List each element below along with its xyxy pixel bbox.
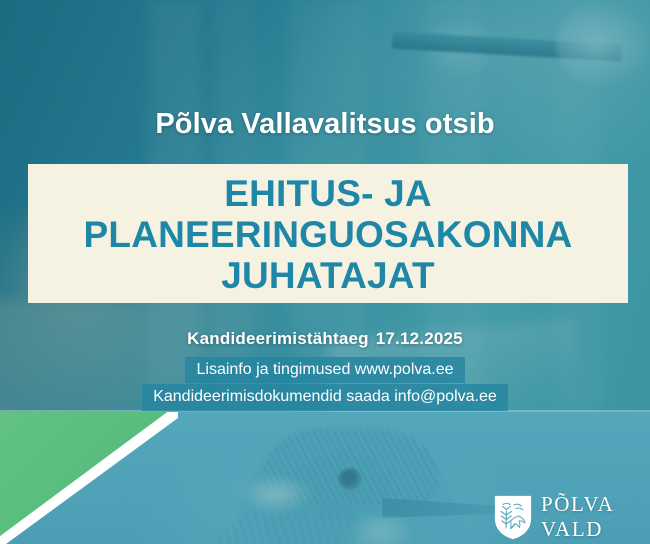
info-line-website: Lisainfo ja tingimused www.polva.ee bbox=[185, 357, 464, 383]
polva-vald-logo: PÕLVA VALD bbox=[494, 492, 650, 542]
info-lines: Lisainfo ja tingimused www.polva.ee Kand… bbox=[0, 357, 650, 411]
headline-panel: EHITUS- JA PLANEERINGUOSAKONNA JUHATAJAT bbox=[28, 164, 628, 303]
headline-line-2: PLANEERINGUOSAKONNA bbox=[84, 214, 573, 255]
deadline-label: Kandideerimistähtaeg bbox=[187, 329, 369, 348]
eyebrow-text: Põlva Vallavalitsus otsib bbox=[0, 108, 650, 141]
headline-line-3: JUHATAJAT bbox=[221, 255, 435, 296]
deadline-date: 17.12.2025 bbox=[376, 329, 463, 348]
coat-of-arms-icon bbox=[494, 495, 532, 540]
info-line-email: Kandideerimisdokumendid saada info@polva… bbox=[142, 384, 508, 410]
job-ad-banner: Põlva Vallavalitsus otsib EHITUS- JA PLA… bbox=[0, 0, 650, 544]
application-deadline: Kandideerimistähtaeg17.12.2025 bbox=[0, 329, 650, 349]
logo-wordmark: PÕLVA VALD bbox=[541, 492, 650, 542]
headline-line-1: EHITUS- JA bbox=[224, 173, 432, 214]
